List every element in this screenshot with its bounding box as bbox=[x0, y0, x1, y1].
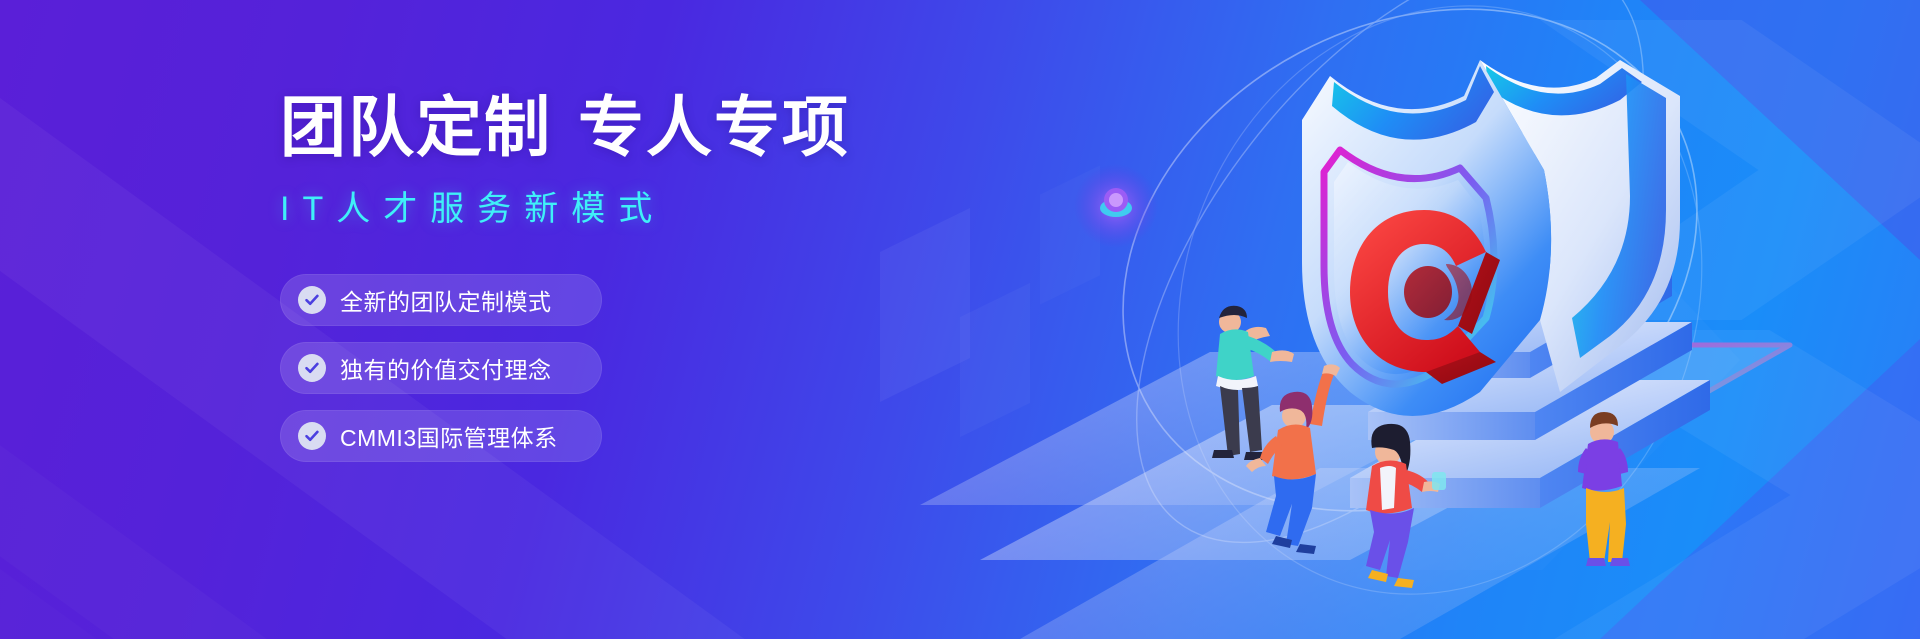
feature-pill-2-label: 独有的价值交付理念 bbox=[340, 351, 552, 385]
check-icon bbox=[298, 354, 326, 382]
shield-illustration bbox=[920, 0, 1920, 639]
feature-pill-2[interactable]: 独有的价值交付理念 bbox=[280, 342, 602, 394]
promo-banner: 团队定制专人专项 IT人才服务新模式 全新的团队定制模式 独有的价值交付理念 bbox=[0, 0, 1920, 639]
headline-part-1: 团队定制 bbox=[280, 90, 552, 164]
orb-left bbox=[1074, 164, 1158, 248]
headline-part-2: 专人专项 bbox=[578, 90, 850, 164]
feature-pill-3[interactable]: CMMI3国际管理体系 bbox=[280, 410, 602, 462]
check-icon bbox=[298, 422, 326, 450]
feature-pill-3-label: CMMI3国际管理体系 bbox=[340, 419, 558, 453]
check-icon bbox=[298, 286, 326, 314]
banner-subheadline: IT人才服务新模式 bbox=[280, 181, 1040, 230]
banner-headline: 团队定制专人专项 bbox=[280, 92, 1040, 163]
feature-pill-1-label: 全新的团队定制模式 bbox=[340, 283, 552, 317]
feature-pill-1[interactable]: 全新的团队定制模式 bbox=[280, 274, 602, 326]
banner-content: 团队定制专人专项 IT人才服务新模式 全新的团队定制模式 独有的价值交付理念 bbox=[280, 92, 1040, 478]
feature-pill-list: 全新的团队定制模式 独有的价值交付理念 CMMI3国际管理体系 bbox=[280, 274, 1040, 462]
